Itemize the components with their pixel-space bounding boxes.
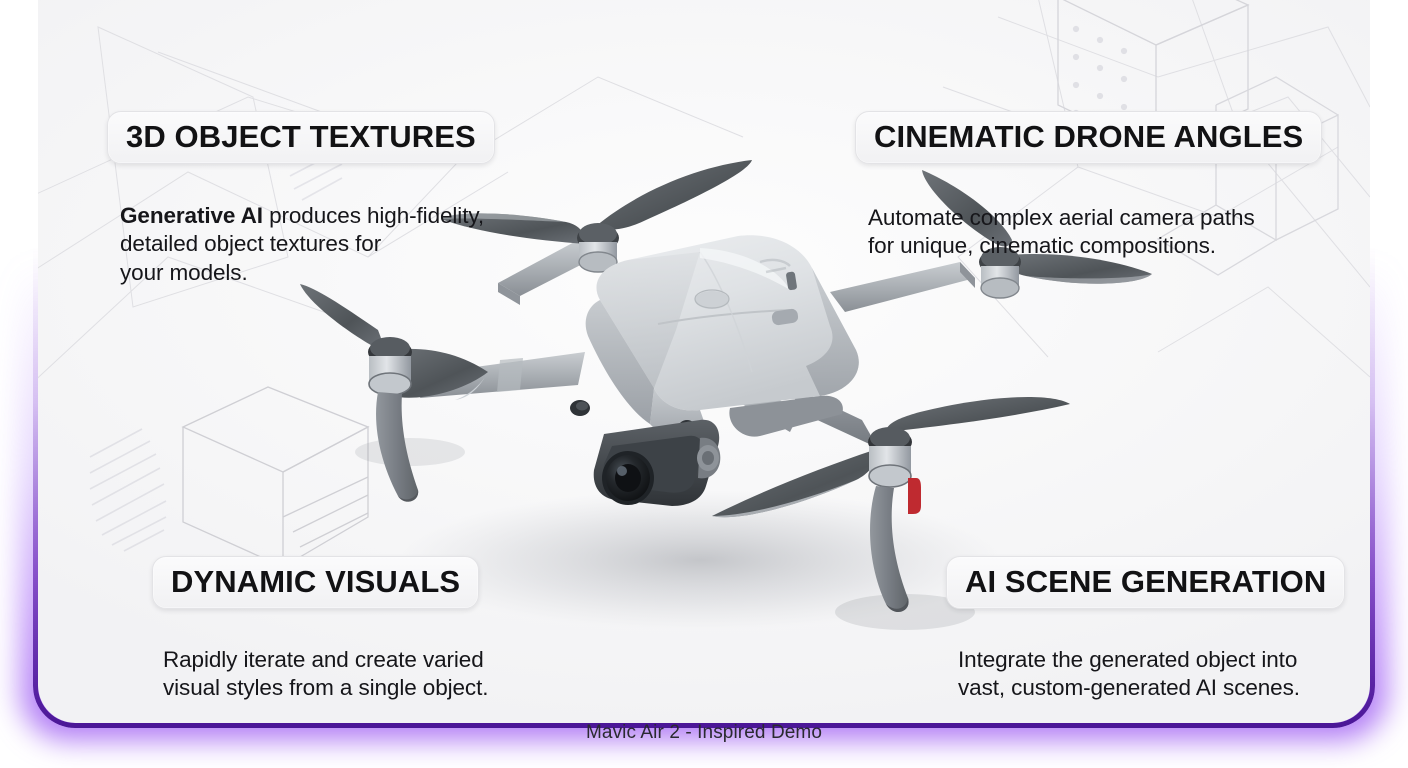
feature-chip-ai-scene-generation[interactable]: AI SCENE GENERATION bbox=[946, 556, 1345, 609]
background-wireframe-decoration bbox=[38, 0, 1370, 723]
feature-body-3d-object-textures: Generative AI produces high-fidelity, de… bbox=[120, 173, 484, 287]
hero-caption: Mavic Air 2 - Inspired Demo bbox=[0, 722, 1408, 744]
feature-chip-dynamic-visuals[interactable]: DYNAMIC VISUALS bbox=[152, 556, 479, 609]
feature-body-rest: Automate complex aerial camera paths for… bbox=[868, 205, 1255, 259]
feature-body-rest: Integrate the generated object into vast… bbox=[958, 647, 1300, 701]
feature-body-ai-scene-generation: Integrate the generated object into vast… bbox=[958, 617, 1300, 703]
feature-body-lead: Generative AI bbox=[120, 203, 263, 228]
card-surface bbox=[38, 0, 1370, 723]
feature-body-cinematic-drone-angles: Automate complex aerial camera paths for… bbox=[868, 175, 1255, 261]
promo-graphic: 3D OBJECT TEXTURES Generative AI produce… bbox=[0, 0, 1408, 768]
feature-body-dynamic-visuals: Rapidly iterate and create varied visual… bbox=[163, 617, 488, 703]
wireframe-cube-left bbox=[183, 387, 368, 567]
feature-chip-3d-object-textures[interactable]: 3D OBJECT TEXTURES bbox=[107, 111, 495, 164]
hatch-patch-left bbox=[90, 429, 166, 551]
feature-chip-cinematic-drone-angles[interactable]: CINEMATIC DRONE ANGLES bbox=[855, 111, 1322, 164]
feature-body-rest: Rapidly iterate and create varied visual… bbox=[163, 647, 488, 701]
